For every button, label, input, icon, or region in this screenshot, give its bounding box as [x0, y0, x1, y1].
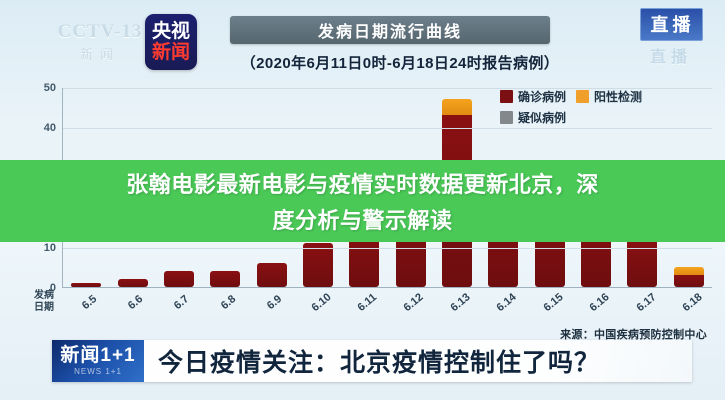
y-axis-tick: 10	[44, 242, 56, 254]
x-axis-label: 6.7	[172, 293, 191, 312]
cctv-news-logo-line1: 央视	[152, 21, 190, 42]
bar-segment-positive	[442, 99, 472, 115]
cctv-watermark: CCTV-13 新闻	[40, 18, 160, 66]
x-axis-label: 6.10	[309, 291, 333, 314]
bar-segment-positive	[674, 267, 704, 275]
x-axis-title-line2: 日期	[27, 302, 61, 314]
y-axis-tick: 40	[44, 122, 56, 134]
x-axis-label: 6.12	[402, 291, 426, 314]
x-axis-label-slot: 6.7	[155, 292, 201, 332]
x-axis-label-slot: 6.8	[201, 292, 247, 332]
news-headline: 今日疫情关注：北京疫情控制住了吗？	[144, 343, 692, 379]
bar-segment-confirmed	[627, 239, 657, 287]
cctv-watermark-subtitle: 新闻	[80, 44, 120, 63]
x-axis-label: 6.13	[448, 291, 472, 314]
x-axis-label: 6.6	[126, 293, 145, 312]
x-axis-label: 6.14	[495, 291, 519, 314]
x-axis-label: 6.11	[356, 291, 380, 314]
bar-segment-confirmed	[257, 263, 287, 287]
chart-title-plate: 发病日期流行曲线	[230, 16, 550, 44]
bar	[674, 267, 704, 287]
x-axis-label-slot: 6.14	[480, 292, 526, 332]
bar	[303, 243, 333, 287]
live-badge-shadow: 直播	[650, 43, 692, 67]
gridline	[63, 248, 712, 249]
bar	[210, 271, 240, 287]
chart-subtitle: （2020年6月11日0时-6月18日24时报告病例）	[190, 52, 610, 73]
x-axis-label-slot: 6.11	[341, 292, 387, 332]
news-ticker-bar: 新闻1+1 NEWS 1+1 今日疫情关注：北京疫情控制住了吗？	[52, 340, 692, 382]
bar-segment-confirmed	[210, 271, 240, 287]
news-program-logo-line1: 新闻1+1	[60, 346, 135, 365]
cctv-news-logo-line2: 新闻	[152, 42, 190, 63]
x-axis-title: 发病 日期	[27, 290, 61, 313]
gridline	[63, 128, 712, 129]
x-axis-label: 6.9	[265, 293, 284, 312]
x-axis-label: 6.15	[541, 291, 565, 314]
overlay-text-line1: 张翰电影最新电影与疫情实时数据更新北京，深	[126, 167, 599, 199]
news-program-logo-line2: NEWS 1+1	[74, 367, 122, 376]
bar-segment-confirmed	[303, 243, 333, 287]
x-axis-label-slot: 6.9	[248, 292, 294, 332]
cctv-watermark-channel: CCTV-13	[58, 21, 143, 43]
x-axis-label-slot: 6.12	[387, 292, 433, 332]
x-axis-label: 6.5	[79, 293, 98, 312]
x-axis-label: 6.18	[680, 291, 704, 314]
x-axis-label-slot: 6.13	[433, 292, 479, 332]
x-axis-label-slot: 6.10	[294, 292, 340, 332]
news-program-logo: 新闻1+1 NEWS 1+1	[52, 340, 144, 382]
bar-segment-confirmed	[118, 279, 148, 287]
bar-segment-confirmed	[164, 271, 194, 287]
bar	[257, 263, 287, 287]
gridline	[63, 88, 712, 89]
x-axis-label-slot: 6.5	[62, 292, 108, 332]
bar-segment-confirmed	[71, 283, 101, 287]
bar-segment-confirmed	[674, 275, 704, 287]
broadcast-screenshot: CCTV-13 新闻 央视 新闻 直播 直播 发病日期流行曲线 （2020年6月…	[0, 0, 725, 400]
chart-title: 发病日期流行曲线	[318, 18, 462, 42]
bar	[118, 279, 148, 287]
bar	[164, 271, 194, 287]
x-axis-label: 6.17	[634, 291, 658, 314]
overlay-banner: 张翰电影最新电影与疫情实时数据更新北京，深 度分析与警示解读	[0, 160, 725, 242]
x-axis-label: 6.16	[588, 291, 612, 314]
overlay-text-line2: 度分析与警示解读	[272, 203, 452, 235]
x-axis-title-line1: 发病	[27, 290, 61, 302]
live-badge: 直播 直播	[629, 8, 713, 70]
y-axis-tick: 50	[44, 82, 56, 94]
live-badge-label: 直播	[640, 8, 703, 41]
x-axis-label-slot: 6.6	[108, 292, 154, 332]
x-axis-label: 6.8	[219, 293, 238, 312]
bar	[71, 283, 101, 287]
